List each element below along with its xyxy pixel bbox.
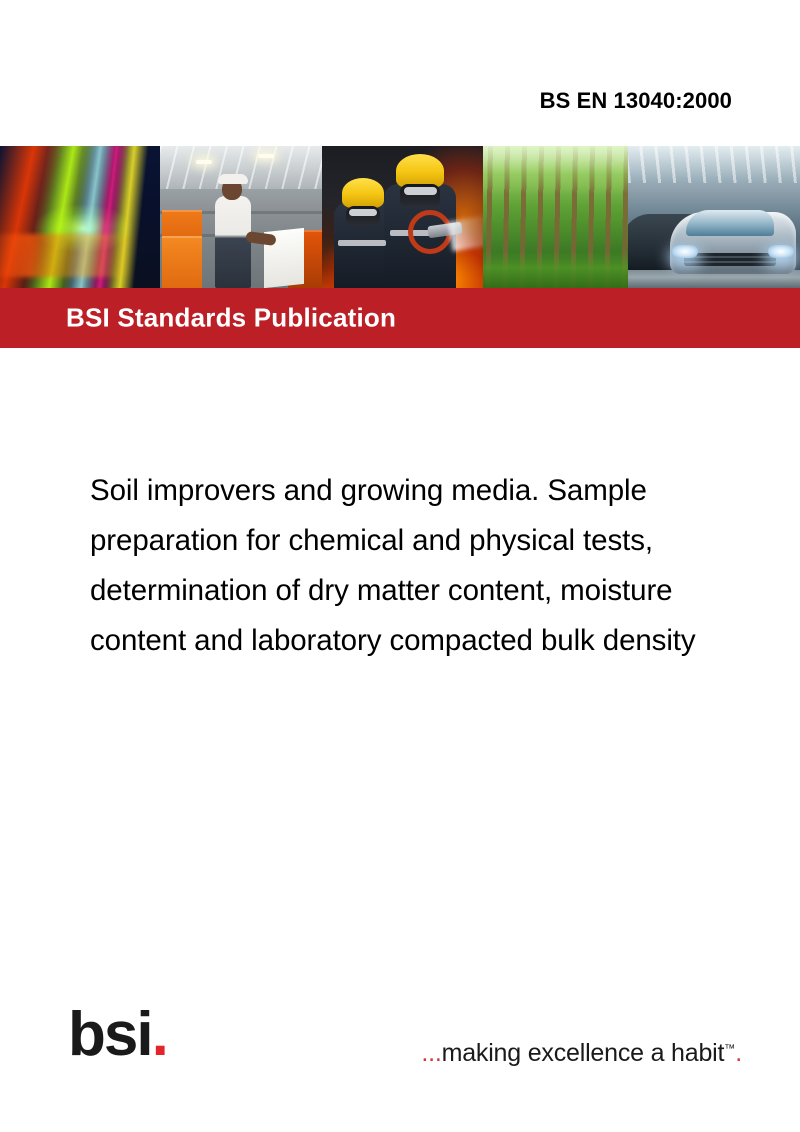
firefighter-visor bbox=[349, 209, 377, 216]
standard-number: BS EN 13040:2000 bbox=[540, 88, 732, 114]
bsi-logo: bsi. bbox=[68, 1004, 167, 1066]
bsi-logo-dot: . bbox=[152, 1000, 167, 1069]
bsi-logo-text: bsi bbox=[68, 1000, 152, 1069]
water-spray bbox=[448, 215, 483, 252]
car-windshield bbox=[686, 210, 774, 236]
car-headlight bbox=[672, 245, 698, 258]
cover-image-strip bbox=[0, 146, 800, 288]
cover-photo-firefighters bbox=[322, 146, 483, 288]
warehouse-lamp-icon bbox=[196, 160, 212, 164]
car-headlight bbox=[768, 245, 794, 258]
publication-banner-label: BSI Standards Publication bbox=[66, 303, 396, 334]
tagline-leading-ellipsis: ... bbox=[421, 1039, 441, 1067]
car-grille bbox=[684, 253, 776, 266]
firefighter-visor bbox=[404, 187, 437, 195]
cover-photo-warehouse-worker bbox=[160, 146, 322, 288]
worker-cap bbox=[218, 174, 248, 184]
warehouse-lamp-icon bbox=[258, 154, 274, 158]
tagline-text: making excellence a habit bbox=[442, 1039, 725, 1067]
cover-photo-forest bbox=[483, 146, 628, 288]
firefighter-reflective-stripe bbox=[338, 240, 386, 246]
forest-floor bbox=[483, 251, 628, 288]
forest-canopy bbox=[483, 146, 628, 194]
cover-photo-car-assembly bbox=[628, 146, 800, 288]
worker-body bbox=[215, 196, 251, 288]
trademark-symbol: ™ bbox=[724, 1043, 735, 1055]
document-title: Soil improvers and growing media. Sample… bbox=[90, 466, 750, 666]
firefighter-helmet bbox=[342, 178, 384, 208]
firefighter-helmet bbox=[396, 154, 444, 188]
bsi-tagline: ...making excellence a habit™. bbox=[421, 1034, 742, 1068]
warehouse-crate bbox=[162, 236, 202, 288]
tagline-end-dot: . bbox=[735, 1039, 742, 1067]
publication-banner: BSI Standards Publication bbox=[0, 288, 800, 348]
factory-roof bbox=[628, 146, 800, 183]
cover-photo-traffic-light-trails bbox=[0, 146, 160, 288]
